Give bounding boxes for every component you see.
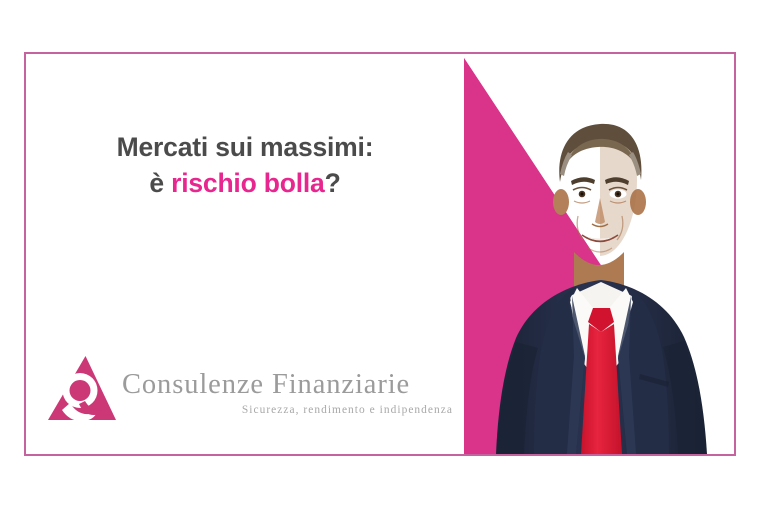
logo-text-group: Consulenze Finanziarie Sicurezza, rendim… [122, 368, 456, 417]
page-title: Mercati sui massimi: è rischio bolla? [26, 130, 464, 201]
headline-accent-text: rischio bolla [171, 168, 325, 198]
speaker-photo-panel [464, 56, 734, 454]
presentation-slide: Mercati sui massimi: è rischio bolla? [0, 0, 768, 512]
logo-q-triangle-icon [44, 354, 118, 430]
left-content-column: Mercati sui massimi: è rischio bolla? [26, 54, 464, 454]
headline-line-2: è rischio bolla? [26, 166, 464, 202]
logo-tagline: Sicurezza, rendimento e indipendenza [122, 404, 456, 416]
portrait-photo [464, 56, 734, 454]
headline-line-1: Mercati sui massimi: [26, 130, 464, 166]
logo-company-name: Consulenze Finanziarie [122, 370, 456, 400]
headline-line-2-prefix: è [149, 168, 171, 198]
headline-line-2-suffix: ? [325, 168, 341, 198]
brand-logo: Consulenze Finanziarie Sicurezza, rendim… [44, 354, 456, 430]
